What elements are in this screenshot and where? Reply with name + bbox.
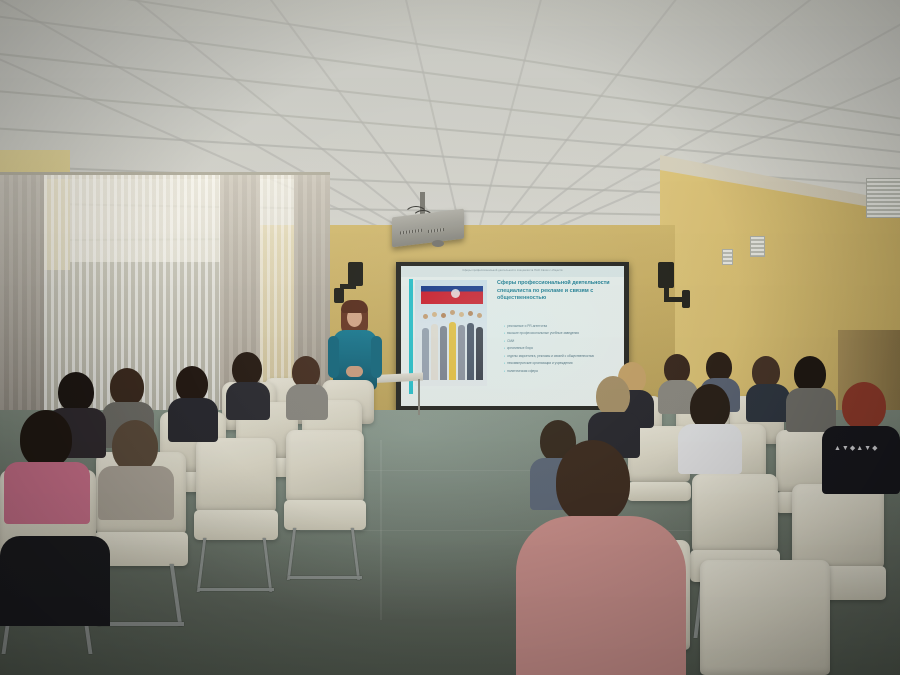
presenter-hands	[346, 366, 363, 377]
ventilation-grille	[866, 178, 900, 218]
wall-speaker-left	[348, 262, 363, 286]
audience-chair	[692, 474, 778, 552]
audience-chair	[196, 438, 276, 512]
shirt-graphic-text: ▲▼◆▲▼◆	[834, 444, 878, 452]
projector-lens	[432, 240, 444, 247]
ventilation-grille	[722, 249, 733, 265]
ventilation-grille	[750, 236, 765, 257]
slide-header-bar: Сферы профессиональной деятельности спец…	[401, 266, 624, 277]
slide-photo	[415, 280, 487, 386]
table-leg	[418, 379, 420, 415]
slide-bullet: отделы маркетинга, рекламы и связей с об…	[504, 354, 615, 359]
slide-surface: Сферы профессиональной деятельности спец…	[401, 266, 624, 406]
presenter-hair-front	[341, 300, 368, 313]
slide-bullet: некоммерческие организации и учреждения	[504, 361, 615, 366]
audience-chair	[792, 484, 884, 568]
slide-header-text: Сферы профессиональной деятельности спец…	[462, 269, 562, 272]
slide-bullet-list: рекламные и PR-агентства высшие професси…	[499, 324, 615, 376]
presenter-arm-right	[371, 336, 382, 378]
audience-chair	[286, 430, 364, 502]
slide-bullets: рекламные и PR-агентства высшие професси…	[499, 324, 615, 374]
slide-bullet: политическая сфера	[504, 369, 615, 374]
slide-bullet: высшие профессиональные учебные заведени…	[504, 331, 615, 336]
slide-title: Сферы профессиональной деятельности спец…	[497, 280, 615, 303]
slide-bullet: рекламные и PR-агентства	[504, 324, 615, 329]
slide-bullet: СМИ	[504, 339, 615, 344]
wall-speaker-right	[658, 262, 674, 288]
slide-photo-banner	[421, 286, 483, 304]
audience-chair	[700, 560, 830, 675]
slide-bullet: креативные бюро	[504, 346, 615, 351]
presenter-arm-left	[328, 336, 339, 378]
projection-screen: Сферы профессиональной деятельности спец…	[396, 262, 629, 412]
wall-speaker-right-lower	[682, 290, 690, 308]
lecture-hall-photo: Сферы профессиональной деятельности спец…	[0, 0, 900, 675]
